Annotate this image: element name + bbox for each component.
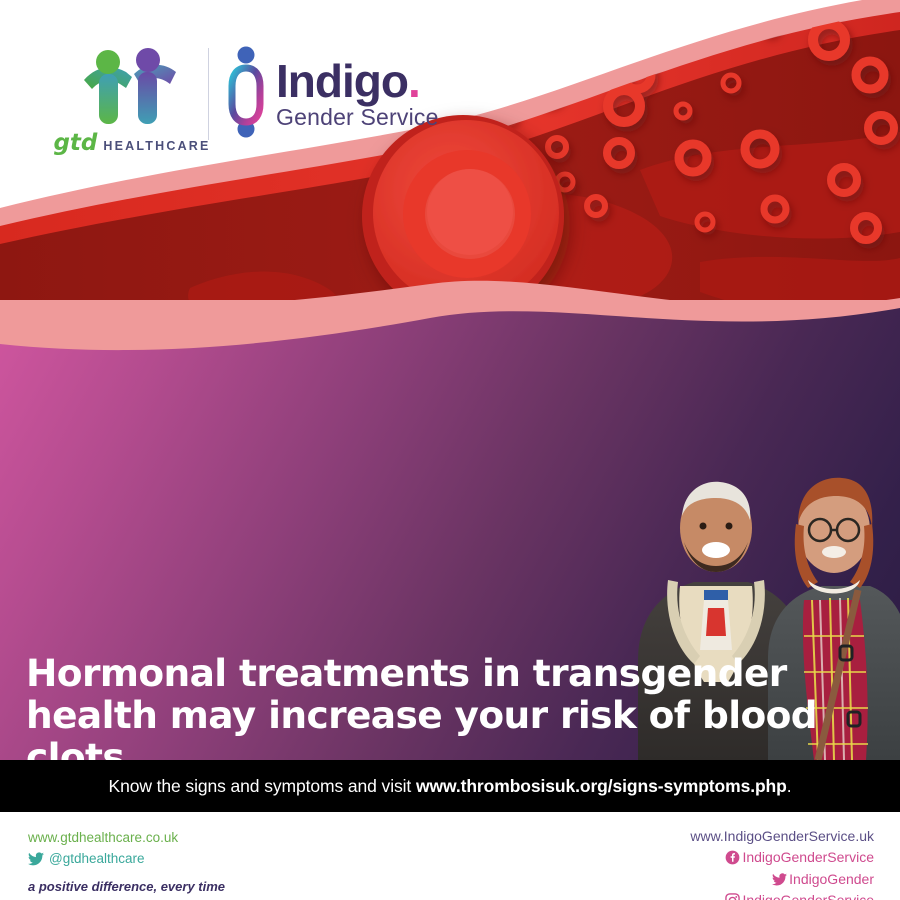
- indigo-website-link[interactable]: www.IndigoGenderService.uk: [690, 826, 874, 847]
- indigo-wordmark: Indigo. Gender Service: [276, 46, 439, 131]
- gtd-healthcare-word: HEALTHCARE: [103, 139, 210, 153]
- indigo-gender-service-logo: Indigo. Gender Service: [228, 46, 439, 138]
- gtd-twitter-link[interactable]: @gtdhealthcare: [28, 849, 225, 870]
- panel-top-curve: [0, 300, 900, 370]
- headline: Hormonal treatments in transgender healt…: [26, 652, 896, 760]
- gtd-healthcare-logo: gtd HEALTHCARE: [52, 44, 212, 156]
- instagram-icon: [725, 893, 740, 900]
- indigo-instagram-handle: IndigoGenderService: [742, 890, 874, 900]
- message-copy: Hormonal treatments in transgender healt…: [26, 652, 646, 760]
- gtd-wordmark: gtd HEALTHCARE: [53, 130, 210, 156]
- twitter-bird-icon: [772, 873, 787, 886]
- indigo-subtitle: Gender Service: [276, 104, 439, 131]
- main-message-panel: Hormonal treatments in transgender healt…: [0, 300, 900, 760]
- indigo-facebook-handle: IndigoGenderService: [742, 847, 874, 868]
- logo-bar: gtd HEALTHCARE In: [0, 38, 900, 153]
- call-to-action-text: Know the signs and symptoms and visit ww…: [109, 776, 792, 797]
- indigo-i-icon: [228, 46, 264, 138]
- gtd-letters: gtd: [53, 130, 97, 156]
- gtd-tagline: a positive difference, every time: [28, 879, 225, 894]
- indigo-instagram-link[interactable]: IndigoGenderService: [690, 890, 874, 900]
- indigo-facebook-link[interactable]: IndigoGenderService: [690, 847, 874, 868]
- call-to-action-strip: Know the signs and symptoms and visit ww…: [0, 760, 900, 812]
- poster: gtd HEALTHCARE In: [0, 0, 900, 900]
- cta-suffix: .: [787, 776, 792, 796]
- indigo-name: Indigo.: [276, 60, 439, 102]
- gtd-word-g: gtd: [53, 130, 97, 156]
- gtd-website-link[interactable]: www.gtdhealthcare.co.uk: [28, 828, 225, 849]
- cta-prefix: Know the signs and symptoms and visit: [109, 776, 416, 796]
- indigo-twitter-link[interactable]: IndigoGender: [690, 869, 874, 890]
- indigo-twitter-handle: IndigoGender: [789, 869, 874, 890]
- footer: www.gtdhealthcare.co.uk @gtdhealthcare a…: [0, 812, 900, 900]
- logo-divider: [208, 48, 209, 140]
- gtd-twitter-handle: @gtdhealthcare: [49, 849, 145, 870]
- indigo-accent-dot: .: [408, 60, 420, 102]
- footer-left: www.gtdhealthcare.co.uk @gtdhealthcare a…: [28, 828, 225, 894]
- facebook-icon: [725, 850, 740, 865]
- cta-url[interactable]: www.thrombosisuk.org/signs-symptoms.php: [416, 776, 787, 796]
- two-people-icon: [76, 44, 188, 126]
- twitter-bird-icon: [28, 852, 44, 866]
- indigo-name-text: Indigo: [276, 60, 408, 102]
- footer-right: www.IndigoGenderService.uk IndigoGenderS…: [690, 826, 874, 900]
